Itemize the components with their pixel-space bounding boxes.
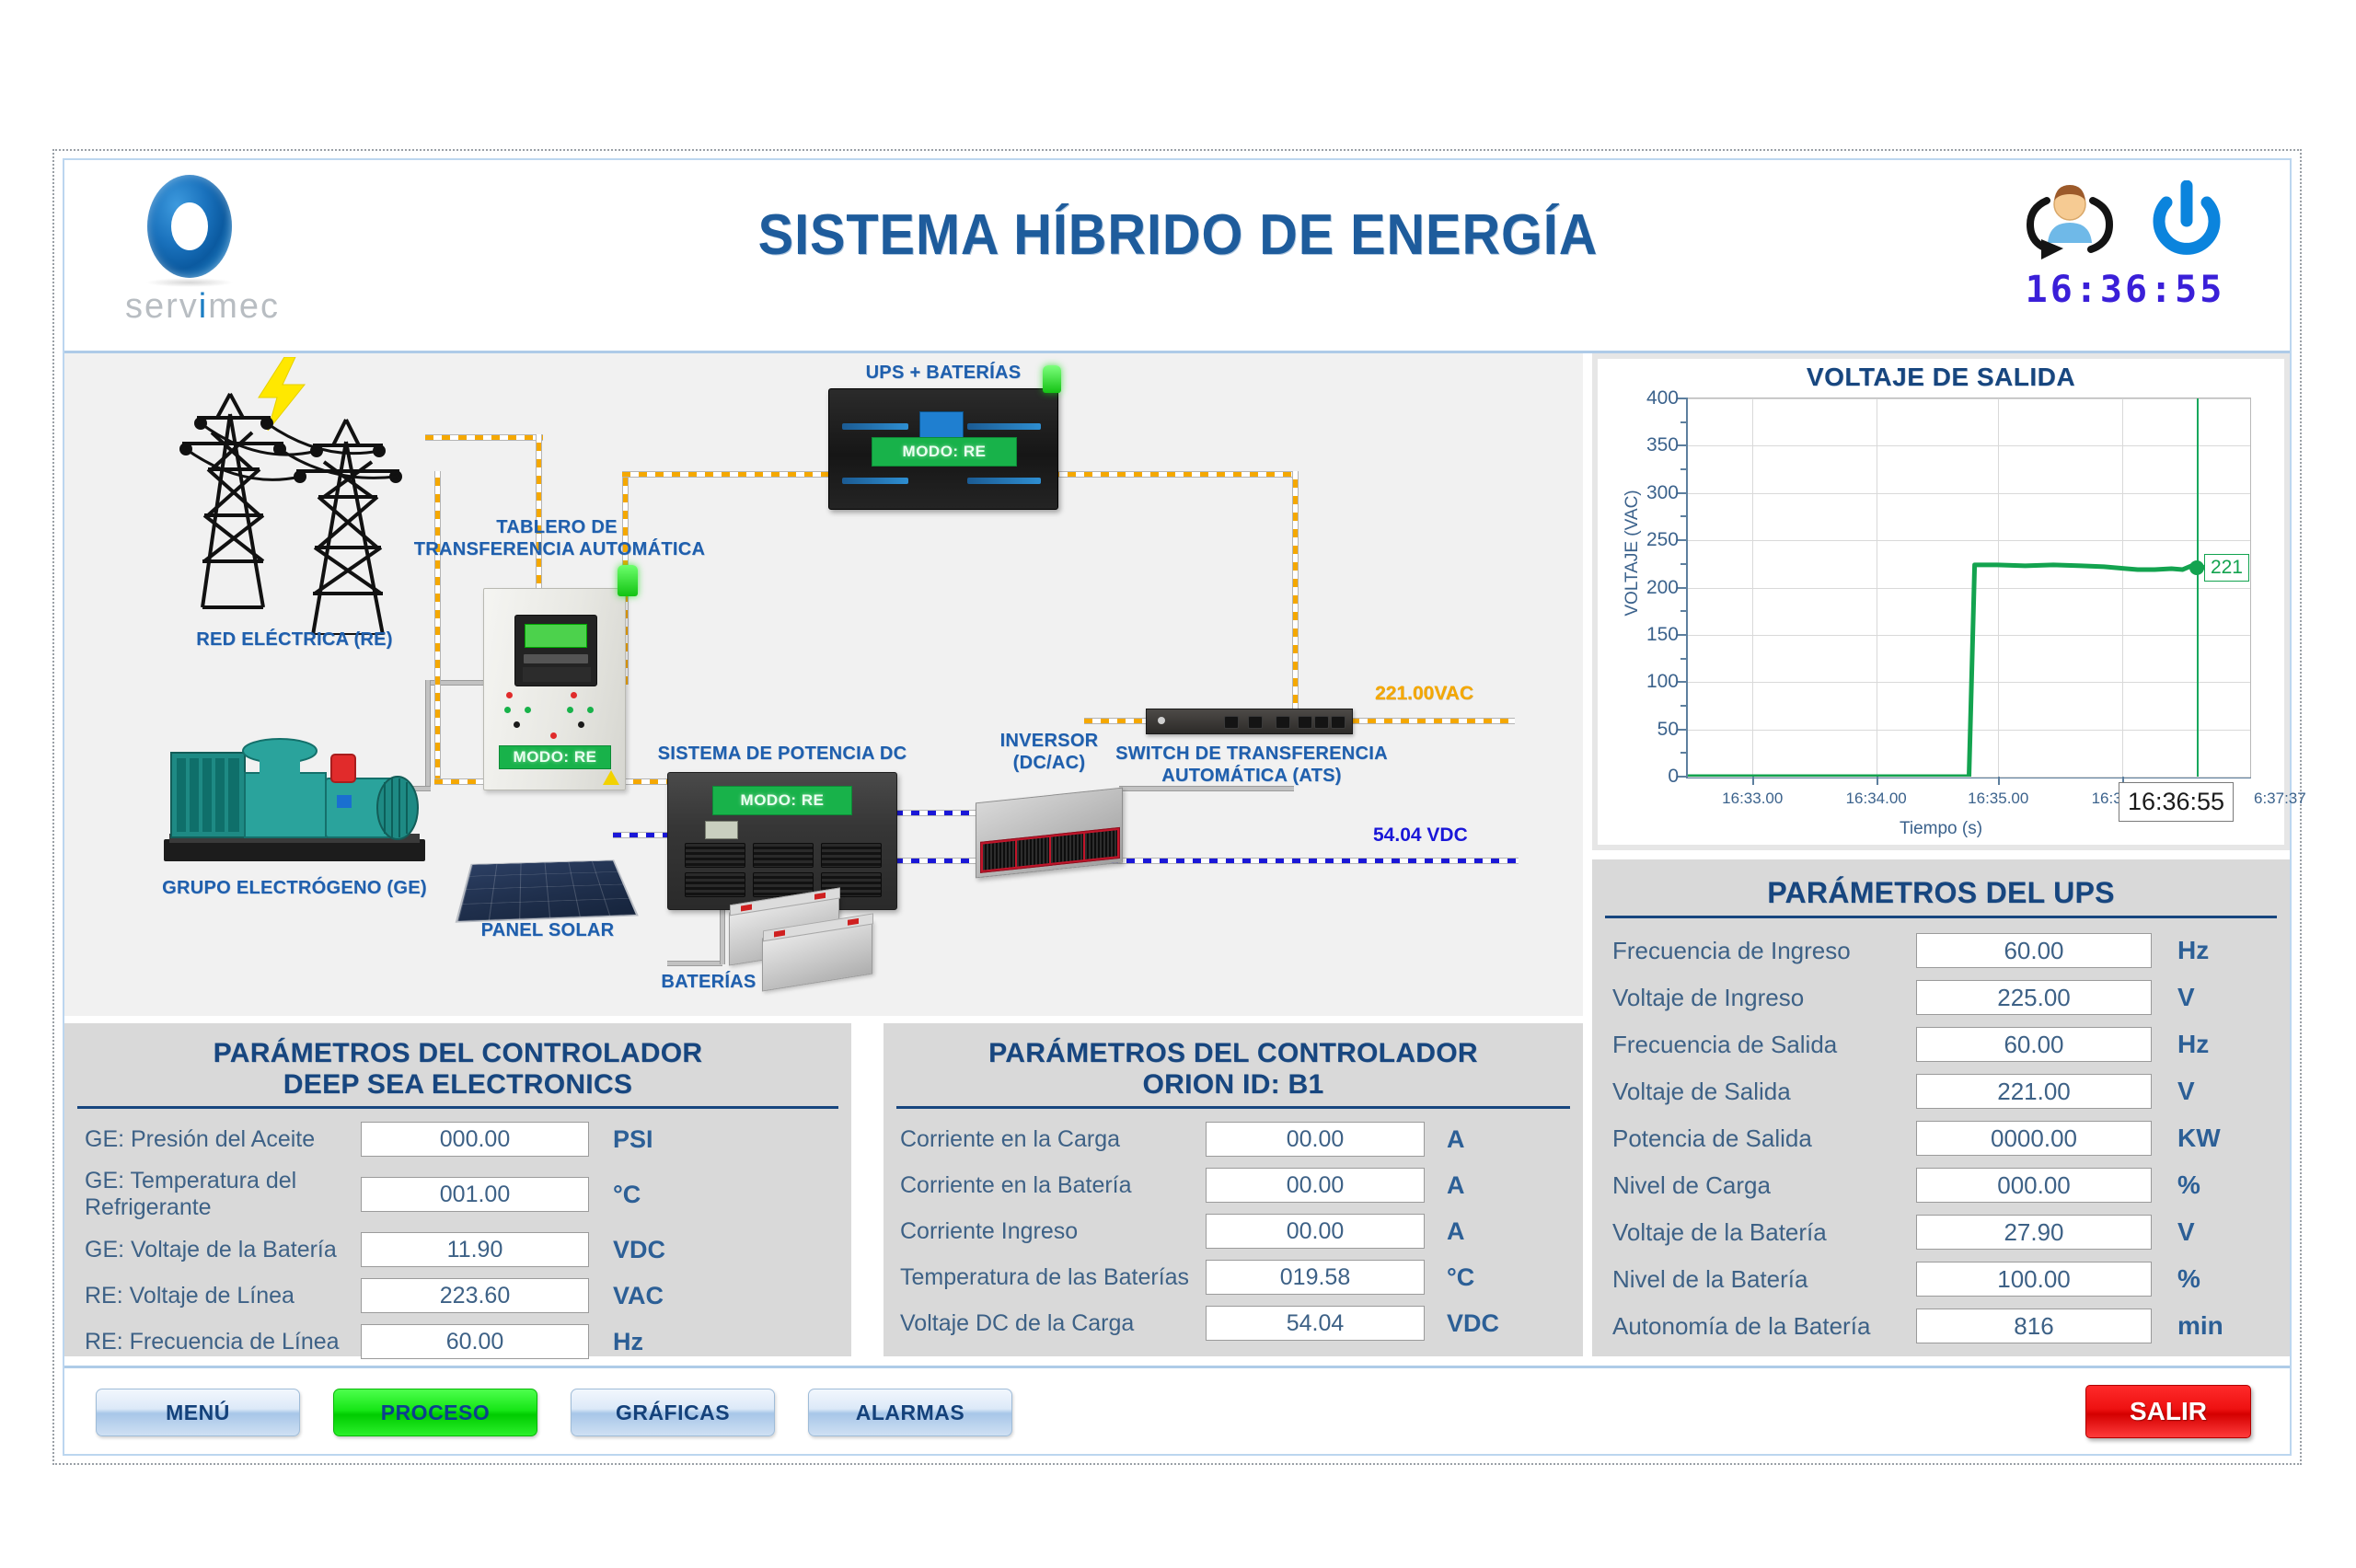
param-value[interactable]: 0000.00 [1916, 1121, 2152, 1156]
param-value[interactable]: 00.00 [1206, 1168, 1425, 1203]
label-genset: GRUPO ELECTRÓGENO (GE) [129, 878, 460, 899]
brand-name: servimec [101, 287, 304, 327]
param-row: Potencia de Salida0000.00KW [1612, 1121, 2269, 1156]
param-label: Corriente Ingreso [900, 1218, 1206, 1245]
param-label: Nivel de Carga [1612, 1171, 1916, 1200]
panel-ups-parameters: PARÁMETROS DEL UPS Frecuencia de Ingreso… [1592, 859, 2290, 1356]
param-value[interactable]: 223.60 [361, 1278, 589, 1313]
readout-dc-value: 54.04 [1373, 824, 1422, 846]
exit-button[interactable]: SALIR [2085, 1385, 2251, 1438]
param-label: Corriente en la Batería [900, 1172, 1206, 1199]
chart-x-tick-label: 16:35.00 [1968, 790, 2028, 808]
dc-module-grid [685, 843, 882, 900]
param-row: Nivel de Carga000.00% [1612, 1168, 2269, 1203]
wire-ats-out [1351, 718, 1515, 724]
label-grid: RED ELÉCTRICA (RE) [156, 629, 433, 651]
param-label: Frecuencia de Ingreso [1612, 937, 1916, 965]
wire-batteries-v [720, 905, 725, 964]
orion-title-line1: PARÁMETROS DEL CONTROLADOR [883, 1023, 1583, 1069]
chart-cursor-time-readout[interactable]: 16:36:55 [2119, 782, 2234, 822]
param-value[interactable]: 000.00 [1916, 1168, 2152, 1203]
param-unit: VAC [589, 1282, 681, 1310]
solar-panel-icon [456, 859, 639, 922]
label-ats-line2: AUTOMÁTICA (ATS) [1114, 766, 1390, 787]
param-unit: VDC [589, 1236, 681, 1264]
chart-y-tickmark [1680, 658, 1688, 660]
param-unit: Hz [2152, 1030, 2253, 1059]
param-value[interactable]: 225.00 [1916, 980, 2152, 1015]
param-value[interactable]: 019.58 [1206, 1260, 1425, 1295]
param-row: Corriente en la Batería00.00A [900, 1168, 1566, 1203]
wire-right-down [1292, 471, 1299, 720]
tablero-mode-display: MODO: RE [499, 745, 611, 769]
chart-y-tickmark [1680, 610, 1688, 612]
hmi-screen: servimec SISTEMA HÍBRIDO DE ENERGÍA [0, 0, 2356, 1568]
param-value[interactable]: 000.00 [361, 1122, 589, 1157]
param-row: Corriente Ingreso00.00A [900, 1214, 1566, 1249]
param-unit: VDC [1425, 1309, 1507, 1338]
param-unit: KW [2152, 1124, 2253, 1153]
param-row: Nivel de la Batería100.00% [1612, 1262, 2269, 1297]
param-unit: °C [1425, 1263, 1507, 1292]
wire-ups-to-right [1051, 471, 1298, 478]
tablero-led-row [504, 692, 609, 734]
chart-title: VOLTAJE DE SALIDA [1598, 363, 2284, 392]
chart-y-tickmark [1680, 421, 1688, 423]
wire-solar-to-dc [613, 832, 672, 838]
dc-mode-display: MODO: RE [712, 786, 852, 815]
chart-y-tickmark [1678, 634, 1688, 636]
label-tablero-line1: TABLERO DE [433, 517, 681, 538]
chart-y-tickmark [1678, 587, 1688, 589]
user-switch-icon[interactable] [2019, 180, 2120, 269]
power-pylon-icon [175, 377, 451, 640]
chart-y-tick-label: 150 [1646, 624, 1679, 646]
param-value[interactable]: 54.04 [1206, 1306, 1425, 1341]
system-clock: 16:36:55 [2010, 269, 2240, 311]
chart-y-tickmark [1678, 681, 1688, 683]
param-unit: Hz [2152, 936, 2253, 965]
chart-y-tickmark [1678, 492, 1688, 494]
label-batteries: BATERÍAS [626, 972, 791, 993]
chart-y-tick-label: 400 [1646, 387, 1679, 409]
param-row: Voltaje de Salida221.00V [1612, 1074, 2269, 1109]
param-label: Frecuencia de Salida [1612, 1031, 1916, 1059]
ats-device [1146, 709, 1353, 734]
footer-toolbar: MENÚPROCESOGRÁFICASALARMAS SALIR [64, 1366, 2290, 1454]
ats-cabinet: MODO: RE [483, 588, 626, 790]
param-row: Voltaje de Ingreso225.00V [1612, 980, 2269, 1015]
param-label: RE: Voltaje de Línea [85, 1283, 361, 1309]
process-diagram: RED ELÉCTRICA (RE) [64, 353, 1583, 1016]
dse-controller-icon [514, 615, 597, 686]
param-value[interactable]: 00.00 [1206, 1214, 1425, 1249]
panel-orion-controller: PARÁMETROS DEL CONTROLADOR ORION ID: B1 … [883, 1023, 1583, 1356]
orion-rows: Corriente en la Carga00.00ACorriente en … [883, 1109, 1583, 1341]
param-value[interactable]: 27.90 [1916, 1215, 2152, 1250]
param-unit: V [2152, 1217, 2253, 1247]
ups-mode-display: MODO: RE [872, 437, 1017, 467]
dse-title-line1: PARÁMETROS DEL CONTROLADOR [64, 1023, 851, 1069]
param-unit: °C [589, 1181, 681, 1209]
param-row: Voltaje de la Batería27.90V [1612, 1215, 2269, 1250]
chart-cursor-line[interactable] [2197, 398, 2199, 777]
brand-logo: servimec [92, 169, 304, 344]
param-label: Voltaje de Salida [1612, 1078, 1916, 1106]
readout-dc: 54.04 VDC [1373, 824, 1468, 847]
wire-tablero-to-ups [622, 471, 836, 478]
dc-power-system: MODO: RE [667, 772, 897, 910]
readout-dc-unit: VDC [1426, 824, 1467, 846]
label-solar: PANEL SOLAR [451, 920, 644, 941]
chart-y-tickmark [1680, 515, 1688, 517]
param-row: Voltaje DC de la Carga54.04VDC [900, 1306, 1566, 1341]
label-ups: UPS + BATERÍAS [833, 363, 1054, 384]
chart-y-tickmark [1680, 468, 1688, 470]
chart-y-tickmark [1678, 539, 1688, 541]
chart-y-tickmark [1678, 776, 1688, 778]
chart-x-tick-label: 16:33.00 [1722, 790, 1783, 808]
dc-mini-display [705, 821, 738, 839]
wire-dc-to-inverter [895, 810, 979, 816]
param-label: Autonomía de la Batería [1612, 1312, 1916, 1341]
param-label: Voltaje DC de la Carga [900, 1310, 1206, 1337]
ups-rows: Frecuencia de Ingreso60.00HzVoltaje de I… [1592, 918, 2290, 1343]
nav-button-men[interactable]: MENÚ [96, 1389, 300, 1436]
chart-y-tickmark [1678, 444, 1688, 446]
param-row: Frecuencia de Ingreso60.00Hz [1612, 933, 2269, 968]
param-unit: PSI [589, 1125, 681, 1154]
param-row: Temperatura de las Baterías019.58°C [900, 1260, 1566, 1295]
param-unit: A [1425, 1217, 1507, 1246]
chart-plot-area[interactable]: 05010015020025030035040016:33.0016:34.00… [1686, 398, 2251, 778]
label-ats-line1: SWITCH DE TRANSFERENCIA [1114, 744, 1390, 765]
chart-y-tick-label: 100 [1646, 671, 1679, 693]
page-title: SISTEMA HÍBRIDO DE ENERGÍA [511, 202, 1846, 268]
param-label: GE: Temperatura del Refrigerante [85, 1168, 361, 1221]
param-value[interactable]: 100.00 [1916, 1262, 2152, 1297]
label-dc-system: SISTEMA DE POTENCIA DC [653, 744, 911, 765]
param-row: Autonomía de la Batería816min [1612, 1309, 2269, 1343]
nav-button-alarmas[interactable]: ALARMAS [808, 1389, 1012, 1436]
ups-status-lamp [1043, 365, 1061, 393]
chart-y-tick-label: 0 [1668, 766, 1679, 788]
chart-y-tick-label: 250 [1646, 529, 1679, 551]
param-unit: min [2152, 1311, 2253, 1341]
param-unit: V [2152, 1077, 2253, 1106]
power-icon[interactable] [2144, 180, 2229, 269]
chart-x-tick-label: 16:34.00 [1846, 790, 1907, 808]
param-row: Frecuencia de Salida60.00Hz [1612, 1027, 2269, 1062]
param-label: Voltaje de la Batería [1612, 1218, 1916, 1247]
orion-title-line2: ORION ID: B1 [883, 1069, 1583, 1101]
param-label: GE: Presión del Aceite [85, 1126, 361, 1153]
dse-rows: GE: Presión del Aceite000.00PSIGE: Tempe… [64, 1109, 851, 1359]
param-unit: V [2152, 983, 2253, 1012]
inverter-device [976, 788, 1123, 879]
param-row: GE: Temperatura del Refrigerante001.00°C [85, 1168, 831, 1221]
readout-ac: 221.00VAC [1375, 683, 1473, 705]
chart-y-tickmark [1678, 729, 1688, 731]
param-unit: A [1425, 1171, 1507, 1200]
chart-y-tickmark [1680, 563, 1688, 565]
param-label: GE: Voltaje de la Batería [85, 1237, 361, 1263]
chart-y-tick-label: 200 [1646, 577, 1679, 599]
warning-triangle-icon [603, 770, 619, 785]
param-label: Nivel de la Batería [1612, 1265, 1916, 1294]
param-label: Temperatura de las Baterías [900, 1264, 1206, 1291]
param-value[interactable]: 60.00 [1916, 933, 2152, 968]
chart-y-tick-label: 300 [1646, 482, 1679, 504]
param-value[interactable]: 11.90 [361, 1232, 589, 1267]
panel-deep-sea-electronics: PARÁMETROS DEL CONTROLADOR DEEP SEA ELEC… [64, 1023, 851, 1356]
chart-y-axis-label: VOLTAJE (VAC) [1623, 461, 1643, 645]
chart-current-point [2189, 560, 2204, 575]
chart-x-tickmark [1752, 777, 1754, 785]
logo-shadow [145, 278, 234, 287]
chart-y-tick-label: 350 [1646, 434, 1679, 456]
servimec-ring-icon [147, 175, 232, 278]
param-value[interactable]: 816 [1916, 1309, 2152, 1343]
param-label: Voltaje de Ingreso [1612, 984, 1916, 1012]
param-row: RE: Frecuencia de Línea60.00Hz [85, 1324, 831, 1359]
chart-y-tickmark [1680, 705, 1688, 707]
wire-batteries [667, 961, 722, 966]
chart-value-label: 221 [2204, 554, 2249, 582]
voltage-chart-panel: VOLTAJE DE SALIDA VOLTAJE (VAC) Tiempo (… [1592, 353, 2290, 850]
chart-series [1688, 398, 2250, 777]
chart-x-tickmark [1877, 777, 1878, 785]
chart-x-tickmark [1998, 777, 2000, 785]
param-label: Corriente en la Carga [900, 1126, 1206, 1153]
tablero-status-lamp [618, 565, 638, 596]
param-row: GE: Voltaje de la Batería11.90VDC [85, 1232, 831, 1267]
nav-button-proceso[interactable]: PROCESO [333, 1389, 537, 1436]
param-row: RE: Voltaje de Línea223.60VAC [85, 1278, 831, 1313]
param-value[interactable]: 001.00 [361, 1177, 589, 1212]
param-unit: Hz [589, 1328, 681, 1356]
inverter-modules [980, 827, 1120, 873]
param-value[interactable]: 221.00 [1916, 1074, 2152, 1109]
param-row: Corriente en la Carga00.00A [900, 1122, 1566, 1157]
genset-icon [156, 721, 433, 869]
chart-y-tick-label: 50 [1657, 719, 1679, 741]
param-unit: A [1425, 1125, 1507, 1154]
chart-y-tickmark [1678, 398, 1688, 399]
ups-device: MODO: RE [828, 388, 1058, 510]
param-row: GE: Presión del Aceite000.00PSI [85, 1122, 831, 1157]
header-icon-group: 16:36:55 [1982, 173, 2258, 339]
param-label: RE: Frecuencia de Línea [85, 1329, 361, 1355]
label-tablero-line2: TRANSFERENCIA AUTOMÁTICA [412, 539, 707, 560]
param-value[interactable]: 60.00 [361, 1324, 589, 1359]
nav-button-grficas[interactable]: GRÁFICAS [571, 1389, 775, 1436]
param-value[interactable]: 00.00 [1206, 1122, 1425, 1157]
header-bar: servimec SISTEMA HÍBRIDO DE ENERGÍA [64, 160, 2290, 353]
ups-title: PARÁMETROS DEL UPS [1592, 859, 2290, 910]
readout-ac-unit: VAC [1434, 683, 1473, 704]
param-unit: % [2152, 1170, 2253, 1200]
param-label: Potencia de Salida [1612, 1124, 1916, 1153]
param-unit: % [2152, 1264, 2253, 1294]
chart-y-tickmark [1680, 752, 1688, 754]
chart-gridline-h [1688, 777, 2250, 778]
chart-x-right-label: 6:37:37 [2254, 790, 2306, 808]
param-value[interactable]: 60.00 [1916, 1027, 2152, 1062]
readout-ac-value: 221.00 [1375, 683, 1434, 704]
chart-x-axis-label: Tiempo (s) [1598, 819, 2284, 839]
dse-title-line2: DEEP SEA ELECTRONICS [64, 1069, 851, 1101]
